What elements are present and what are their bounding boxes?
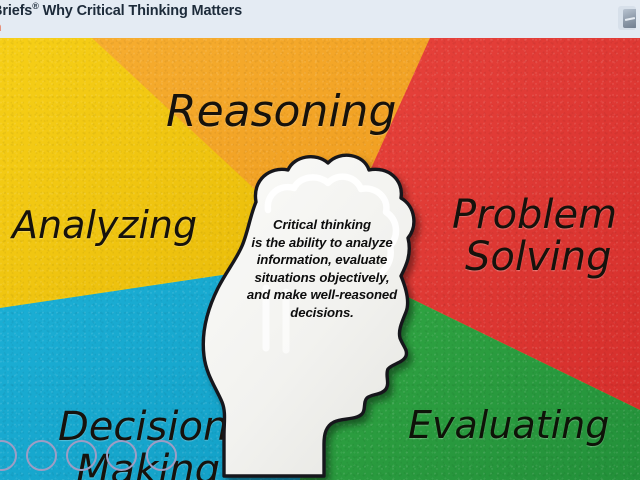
pagination-dot[interactable] — [146, 440, 177, 471]
slide-icon — [623, 9, 636, 28]
presentation-viewer: Briefs® Why Critical Thinking Matters io… — [0, 0, 640, 480]
pagination-dot[interactable] — [106, 440, 137, 471]
pagination-dot[interactable] — [0, 440, 17, 471]
wedge-label-problem-line1: Problem — [452, 192, 617, 238]
slide-pagination[interactable] — [0, 440, 177, 471]
pagination-dot[interactable] — [26, 440, 57, 471]
slide-canvas[interactable]: Analyzing Reasoning Problem Solving Deci… — [0, 38, 640, 480]
wedge-label-analyzing: Analyzing — [12, 206, 197, 245]
app-header: Briefs® Why Critical Thinking Matters io… — [0, 0, 640, 39]
wedge-label-reasoning: Reasoning — [166, 90, 396, 135]
page-title-brand: Briefs — [0, 3, 32, 19]
pagination-dot[interactable] — [66, 440, 97, 471]
wedge-label-problem-solving: Problem Solving — [452, 154, 617, 318]
presentation-mode-button[interactable] — [618, 6, 636, 30]
quote-text: Critical thinking is the ability to anal… — [232, 216, 412, 321]
wedge-label-problem-line2: Solving — [465, 237, 617, 278]
page-title-rest: Why Critical Thinking Matters — [39, 3, 242, 19]
page-subtitle: ion — [0, 19, 2, 34]
page-title: Briefs® Why Critical Thinking Matters — [0, 1, 242, 19]
